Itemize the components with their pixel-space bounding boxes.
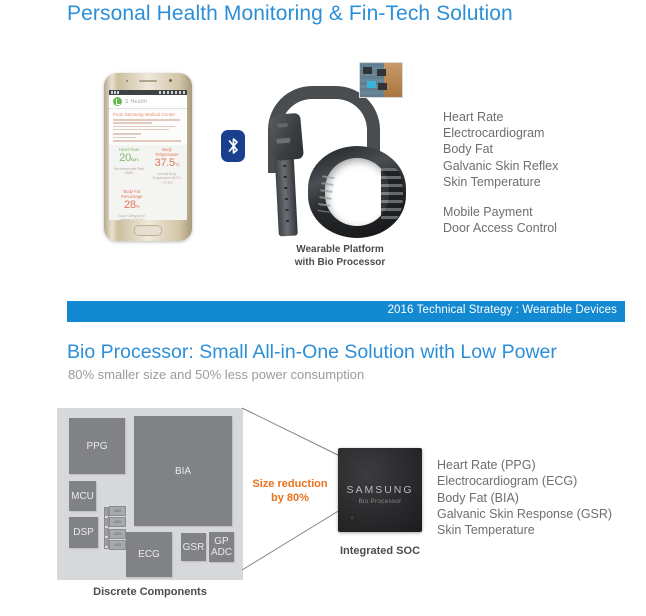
metric-sub: Good Category for Athlete in Sport: [113, 214, 150, 220]
bottom-feature-list: Heart Rate (PPG) Electrocardiogram (ECG)…: [437, 457, 612, 538]
feature-list-spacer: [443, 190, 558, 204]
metric-label: Body Temperature: [151, 147, 183, 157]
feature-item: Door Access Control: [443, 220, 558, 236]
component-ecg: ECG: [126, 532, 172, 577]
pcb-thumbnail-image: [359, 62, 403, 98]
app-header: S Health: [109, 95, 187, 109]
feature-item: Electrocardiogram (ECG): [437, 473, 612, 489]
metric-value: 28%: [113, 200, 150, 212]
metric-body-fat: Body Fat Percentage 28% Good Category fo…: [109, 185, 154, 220]
phone-body: S Health From Samsung Medical Center Hea…: [104, 73, 192, 241]
metric-heart-rate: Heart Rate 20bpm Recommended Rate 60/80: [113, 147, 145, 185]
component-dsp: DSP: [69, 517, 98, 548]
wearable-caption-line1: Wearable Platform: [270, 243, 410, 256]
metric-label: Body Fat Percentage: [113, 189, 150, 199]
phone-speaker: [139, 80, 157, 82]
feature-item: Body Fat: [443, 141, 558, 157]
note-line: [113, 140, 181, 142]
section-divider-bar: 2016 Technical Strategy : Wearable Devic…: [67, 301, 625, 322]
component-ldo: LDO: [109, 529, 126, 539]
integrated-soc-chip: SAMSUNG Bio Processor: [338, 448, 422, 532]
phone-mockup: S Health From Samsung Medical Center Hea…: [104, 73, 192, 241]
size-reduction-line1: Size reduction: [247, 477, 333, 491]
note-line: [113, 137, 136, 139]
pcb-board-area: [360, 63, 384, 97]
metrics-row: Heart Rate 20bpm Recommended Rate 60/80 …: [109, 145, 187, 185]
wearable-caption: Wearable Platform with Bio Processor: [270, 243, 410, 269]
band-button-secondary: [276, 138, 290, 144]
band-button: [277, 123, 288, 128]
phone-screen: S Health From Samsung Medical Center Hea…: [109, 90, 187, 220]
section-two-title: Bio Processor: Small All-in-One Solution…: [67, 341, 557, 364]
metric-sub: Normal Body Temperature 36.5°C ~ 37.5°C: [151, 172, 183, 186]
component-mcu: MCU: [69, 481, 96, 511]
health-note-card: From Samsung Medical Center: [109, 109, 187, 145]
app-name: S Health: [125, 99, 147, 105]
soc-pin1-marker-icon: [349, 514, 356, 521]
component-ldo: LDO: [109, 517, 126, 527]
component-gp-adc: GP ADC: [209, 532, 234, 562]
metric-unit: %: [136, 204, 140, 209]
wearable-caption-line2: with Bio Processor: [270, 256, 410, 269]
note-line: [113, 133, 141, 135]
soc-brand-label: SAMSUNG: [338, 484, 422, 496]
component-ldo: LDO: [109, 540, 126, 550]
band-ring-inner: [325, 158, 389, 226]
discrete-components-caption: Discrete Components: [57, 586, 243, 598]
phone-camera-icon: [169, 79, 172, 82]
band-display-face: [268, 113, 304, 162]
strip-label: 2016 Technical Strategy : Wearable Devic…: [388, 304, 617, 316]
bluetooth-icon: [221, 130, 245, 162]
component-ldo: LDO: [109, 506, 126, 516]
feature-item: Heart Rate (PPG): [437, 457, 612, 473]
component-bia: BIA: [134, 416, 232, 526]
size-reduction-label: Size reduction by 80%: [247, 477, 333, 505]
feature-item: Body Fat (BIA): [437, 490, 612, 506]
note-line: [113, 129, 169, 131]
note-line: [113, 122, 152, 124]
section-two-subtitle: 80% smaller size and 50% less power cons…: [68, 367, 364, 382]
feature-item: Galvanic Skin Response (GSR): [437, 506, 612, 522]
metric-unit: bpm: [131, 157, 139, 162]
page-title: Personal Health Monitoring & Fin-Tech So…: [67, 2, 513, 26]
top-feature-list: Heart Rate Electrocardiogram Body Fat Ga…: [443, 109, 558, 236]
feature-item: Skin Temperature: [437, 522, 612, 538]
status-bar-left-icons: [111, 91, 119, 94]
feature-item: Mobile Payment: [443, 204, 558, 220]
metric-sub: Recommended Rate 60/80: [113, 167, 145, 176]
integrated-soc-caption: Integrated SOC: [330, 545, 430, 557]
pcb-battery-area: [384, 63, 402, 97]
phone-sensor-icon: [126, 80, 128, 82]
note-line: [113, 119, 180, 121]
band-ribs: [381, 168, 403, 220]
phone-status-bar: [109, 90, 187, 95]
ldo-component-group: LDO LDO LDO LDO: [104, 506, 126, 550]
health-note-title: From Samsung Medical Center: [113, 112, 183, 117]
metric-body-temperature: Body Temperature 37.5°C Normal Body Temp…: [151, 147, 183, 185]
metric-value: 20bpm: [113, 153, 145, 165]
feature-item: Skin Temperature: [443, 174, 558, 190]
size-reduction-line2: by 80%: [247, 491, 333, 505]
feature-item: Galvanic Skin Reflex: [443, 158, 558, 174]
closed-band-device: [308, 146, 406, 238]
metric-unit: °C: [175, 162, 179, 167]
soc-sub-label: Bio Processor: [338, 498, 422, 505]
wearable-devices-image: [258, 62, 406, 242]
discrete-components-board: PPG BIA MCU DSP ECG GSR GP ADC: [57, 408, 243, 580]
status-bar-right-icons: [159, 91, 185, 94]
component-gsr: GSR: [181, 533, 206, 561]
app-logo-icon: [113, 97, 122, 106]
component-ppg: PPG: [69, 418, 125, 474]
feature-item: Heart Rate: [443, 109, 558, 125]
phone-home-button[interactable]: [134, 225, 162, 236]
note-line: [113, 126, 175, 128]
feature-item: Electrocardiogram: [443, 125, 558, 141]
metric-value: 37.5°C: [151, 158, 183, 170]
